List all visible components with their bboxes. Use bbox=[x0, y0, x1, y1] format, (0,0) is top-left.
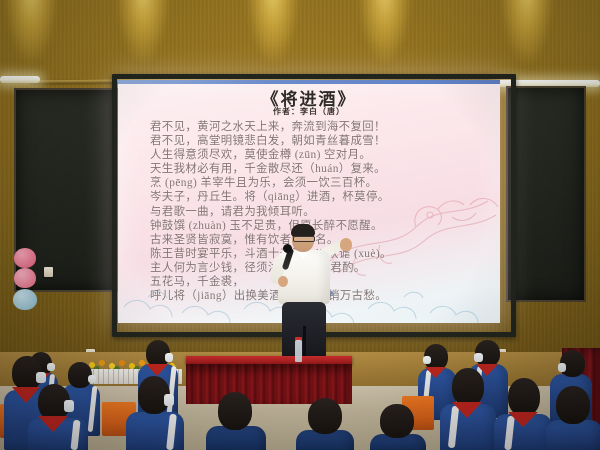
student-head bbox=[380, 404, 414, 438]
presenter-left-hand bbox=[278, 276, 288, 287]
wall-switch-left[interactable] bbox=[44, 267, 53, 277]
downlight-1 bbox=[4, 0, 58, 64]
auditorium-photo: 《将进酒》 作者：李白（唐） 君不见，黄河之水天上来，奔流到海不复回！ 君不见，… bbox=[0, 0, 600, 450]
fluorescent-tube-left bbox=[0, 76, 40, 83]
list-item bbox=[206, 392, 270, 450]
face-mask bbox=[64, 400, 74, 412]
downlight-3 bbox=[246, 0, 300, 64]
face-mask bbox=[474, 353, 483, 362]
list-item bbox=[126, 376, 190, 450]
student-uniform bbox=[546, 420, 600, 450]
balloon-pink-1 bbox=[14, 248, 36, 268]
face-mask bbox=[36, 372, 46, 383]
face-mask bbox=[88, 375, 96, 383]
face-mask bbox=[164, 394, 174, 406]
list-item bbox=[296, 398, 358, 450]
student-head bbox=[218, 392, 252, 430]
list-item bbox=[28, 384, 94, 450]
student-head bbox=[308, 398, 342, 434]
downlight-4 bbox=[358, 0, 412, 64]
face-mask bbox=[558, 363, 566, 372]
glasses-icon bbox=[293, 236, 315, 242]
presenter bbox=[256, 226, 352, 362]
list-item bbox=[370, 404, 430, 450]
list-item bbox=[546, 386, 600, 450]
student-head bbox=[508, 378, 540, 416]
downlight-5 bbox=[500, 0, 554, 64]
face-mask bbox=[423, 356, 431, 364]
blackboard-right bbox=[506, 86, 586, 302]
downlight-2 bbox=[116, 0, 170, 64]
student-head bbox=[452, 368, 484, 406]
list-item bbox=[440, 368, 502, 450]
balloon-blue bbox=[13, 289, 37, 310]
microphone-head-icon bbox=[283, 244, 292, 253]
presenter-right-hand bbox=[340, 238, 352, 251]
face-mask bbox=[165, 353, 173, 362]
balloon-pink-2 bbox=[14, 268, 36, 288]
water-bottle bbox=[295, 340, 302, 362]
student-head bbox=[556, 386, 590, 424]
